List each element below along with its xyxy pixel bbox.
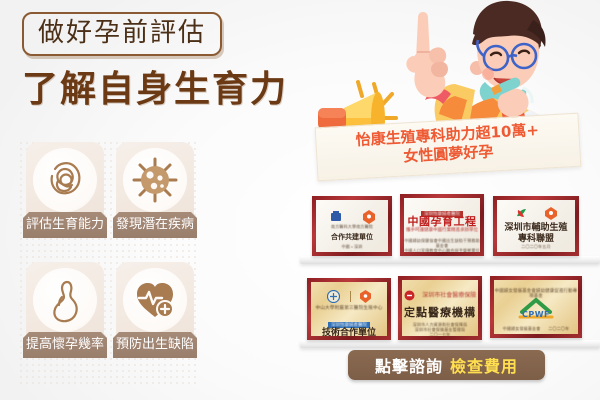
pregnant-woman-icon [33, 268, 97, 332]
cert-face: 深圳市社會醫療保險 定點醫療機構 深圳市人力資源和社會保障局 深圳市社會保險基金… [402, 280, 478, 336]
feature-label-1: 發現潛在疾病 [116, 218, 194, 232]
feature-label-2: 提高懷孕幾率 [26, 338, 104, 352]
heart-pulse-plus-icon [123, 268, 187, 332]
cert-4-title: 定點醫療機構 [402, 304, 478, 320]
feature-card-1[interactable]: 發現潛在疾病 [116, 142, 194, 252]
certificate-1[interactable]: 深圳怡康婦產醫院 中國孕育工程 攜手呵護健康中國行業精進承辦單位 中國婦幼保健協… [400, 194, 484, 256]
cert-face: 中山大學附屬第三醫院生殖中心 深圳怡康婦產醫院 技術合作單位 [311, 282, 387, 336]
feature-grid: 評估生育能力 [26, 142, 206, 382]
cert-face: 中國婦女發展基金會婦幼健康促進行動專項基金 CPWF 中國婦女發展基金會 二〇二… [494, 280, 578, 334]
feature-label-bar-0: 評估生育能力 [23, 212, 107, 238]
cert-4-header: 深圳市社會醫療保險 [422, 293, 476, 299]
certificate-2[interactable]: 深圳市輔助生殖 專科聯盟 二〇二〇年五月 [493, 196, 579, 256]
mother-baby-icon [33, 148, 97, 212]
virus-icon [123, 148, 187, 212]
promo-banner: 做好孕前評估 了解自身生育力 評估生育能力 [0, 0, 600, 400]
cta-accent-label: 檢查費用 [450, 353, 518, 377]
feature-card-0[interactable]: 評估生育能力 [26, 142, 104, 252]
cert-1-subtitle: 攜手呵護健康中國行業精進承辦單位 [404, 227, 480, 233]
cert-2-title-line2: 專科聯盟 [497, 231, 575, 244]
page-title: 了解自身生育力 [22, 70, 288, 110]
badge-title: 做好孕前評估 [38, 19, 206, 47]
feature-label-bar-2: 提高懷孕幾率 [23, 332, 107, 358]
certificate-3[interactable]: 中山大學附屬第三醫院生殖中心 深圳怡康婦產醫院 技術合作單位 [307, 278, 391, 340]
cert-3-title: 技術合作單位 [311, 325, 387, 336]
cert-0-footer: 中國 • 深圳 [316, 244, 388, 249]
feature-label-bar-3: 預防出生缺陷 [113, 332, 197, 358]
shelf-top [300, 256, 600, 264]
certificate-4[interactable]: 深圳市社會醫療保險 定點醫療機構 深圳市人力資源和社會保障局 深圳市社會保險基金… [398, 276, 482, 340]
cert-0-title: 合作共建單位 [316, 232, 388, 242]
certificate-5[interactable]: 中國婦女發展基金會婦幼健康促進行動專項基金 CPWF 中國婦女發展基金會 二〇二… [490, 276, 582, 338]
badge-title-box: 做好孕前評估 [22, 12, 222, 56]
shelf-bottom [300, 340, 600, 348]
cert-3-org: 中山大學附屬第三醫院生殖中心 [311, 305, 387, 310]
certificate-0[interactable]: 南方醫科大學南方醫院 合作共建單位 中國 • 深圳 [312, 196, 392, 256]
cert-1-footer: 中國婦幼保健協會中國出生缺陷干預救助基金會 中國人口宣傳教育中心聯合授予榮譽單位… [404, 238, 480, 252]
cert-5-logo: CPWF [494, 310, 578, 319]
feature-label-0: 評估生育能力 [26, 218, 104, 232]
cert-0-orgs: 南方醫科大學南方醫院 [316, 224, 388, 229]
cta-primary-label: 點擊諮詢 [375, 353, 443, 377]
cert-face: 南方醫科大學南方醫院 合作共建單位 中國 • 深圳 [316, 200, 388, 252]
cert-face: 深圳怡康婦產醫院 中國孕育工程 攜手呵護健康中國行業精進承辦單位 中國婦幼保健協… [404, 198, 480, 252]
cert-4-footer: 深圳市人力資源和社會保障局 深圳市社會保險基金管理局 二〇一七年 [402, 322, 478, 336]
feature-card-3[interactable]: 預防出生缺陷 [116, 262, 194, 372]
consult-cta-button[interactable]: 點擊諮詢 檢查費用 [348, 350, 545, 380]
cert-2-footer: 二〇二〇年五月 [497, 244, 575, 249]
feature-label-3: 預防出生缺陷 [116, 338, 194, 352]
cert-5-footer: 中國婦女發展基金會 二〇二〇年 [494, 326, 578, 331]
feature-label-bar-1: 發現潛在疾病 [113, 212, 197, 238]
feature-card-2[interactable]: 提高懷孕幾率 [26, 262, 104, 372]
cert-face: 深圳市輔助生殖 專科聯盟 二〇二〇年五月 [497, 200, 575, 252]
